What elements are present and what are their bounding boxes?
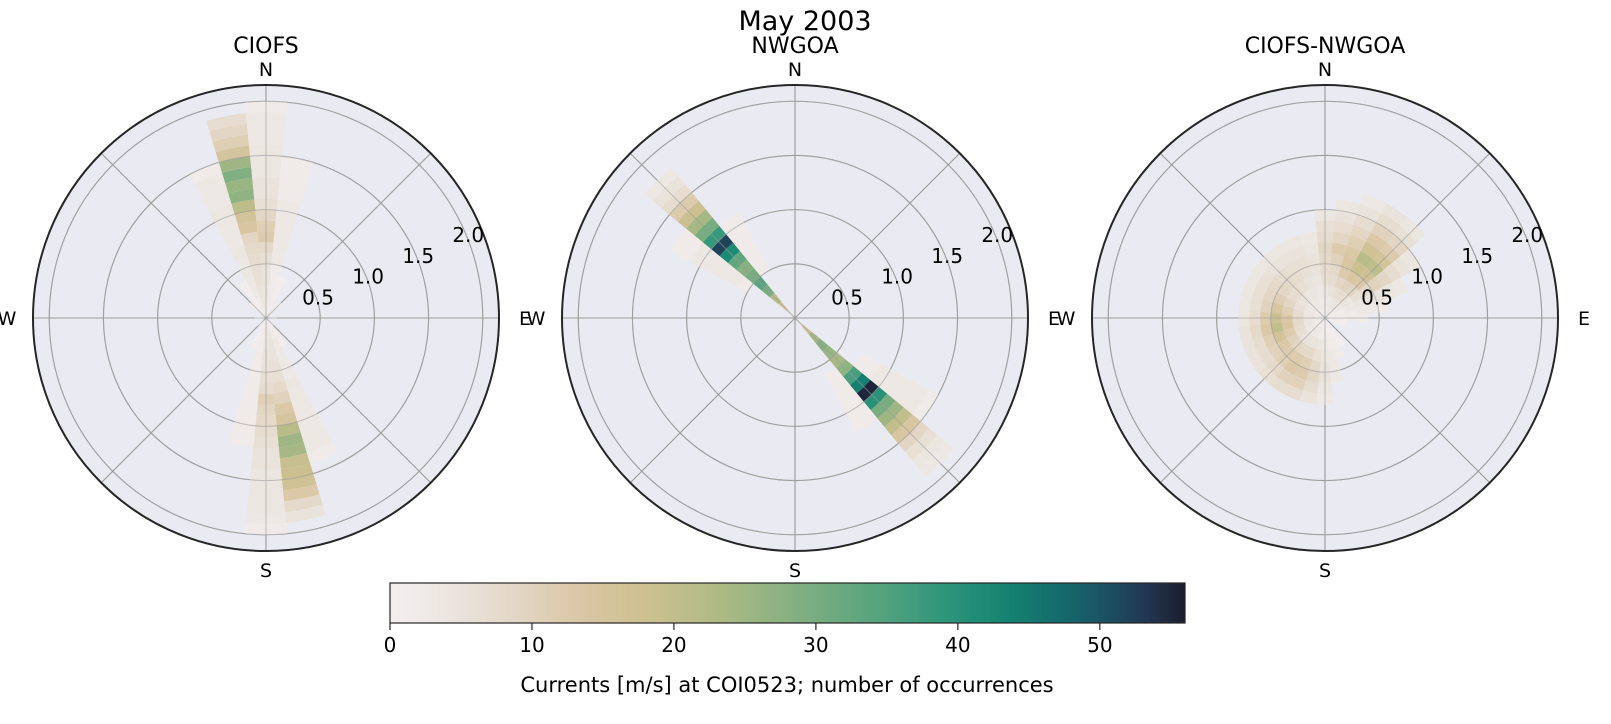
panel-title-nwgoa: NWGOA (751, 34, 838, 59)
r-tick-label-0.5: 0.5 (302, 285, 334, 309)
direction-label-north: N (788, 59, 802, 81)
r-tick-label-2: 2.0 (1511, 223, 1543, 247)
colorbar-label: Currents [m/s] at COI0523; number of occ… (520, 673, 1053, 697)
polar-rose-figure: May 2003 CIOFSNSWE0.51.01.52.0NWGOANSWE0… (0, 0, 1611, 724)
colorbar-tick-label: 20 (661, 633, 686, 657)
direction-label-south: S (260, 560, 272, 582)
r-tick-label-2: 2.0 (452, 223, 484, 247)
figure-suptitle: May 2003 (738, 6, 871, 37)
direction-label-east: E (1578, 308, 1590, 330)
colorbar-tick-label: 50 (1087, 633, 1112, 657)
direction-label-north: N (1318, 59, 1332, 81)
direction-label-north: N (259, 59, 273, 81)
r-tick-label-1.5: 1.5 (402, 244, 434, 268)
direction-label-south: S (1319, 560, 1331, 582)
polar-panels-group: CIOFSNSWE0.51.01.52.0NWGOANSWE0.51.01.52… (0, 34, 1590, 582)
direction-label-west: W (1057, 308, 1076, 330)
colorbar-tick-label: 0 (384, 633, 397, 657)
colorbar-tick-label: 30 (803, 633, 828, 657)
r-tick-label-1.5: 1.5 (931, 244, 963, 268)
direction-label-west: W (527, 308, 546, 330)
colorbar-gradient (390, 583, 1185, 623)
r-tick-label-0.5: 0.5 (831, 285, 863, 309)
panel-title-ciofs-nwgoa: CIOFS-NWGOA (1245, 34, 1406, 59)
r-tick-label-1: 1.0 (352, 265, 384, 289)
r-tick-label-0.5: 0.5 (1361, 285, 1393, 309)
panel-title-ciofs: CIOFS (233, 34, 298, 59)
r-tick-label-1: 1.0 (881, 265, 913, 289)
direction-label-south: S (789, 560, 801, 582)
r-tick-label-1.5: 1.5 (1461, 244, 1493, 268)
r-tick-label-1: 1.0 (1411, 265, 1443, 289)
direction-label-west: W (0, 308, 17, 330)
figure-canvas: May 2003 CIOFSNSWE0.51.01.52.0NWGOANSWE0… (0, 0, 1611, 724)
colorbar-tick-label: 40 (945, 633, 970, 657)
r-tick-label-2: 2.0 (981, 223, 1013, 247)
colorbar-tick-label: 10 (519, 633, 544, 657)
